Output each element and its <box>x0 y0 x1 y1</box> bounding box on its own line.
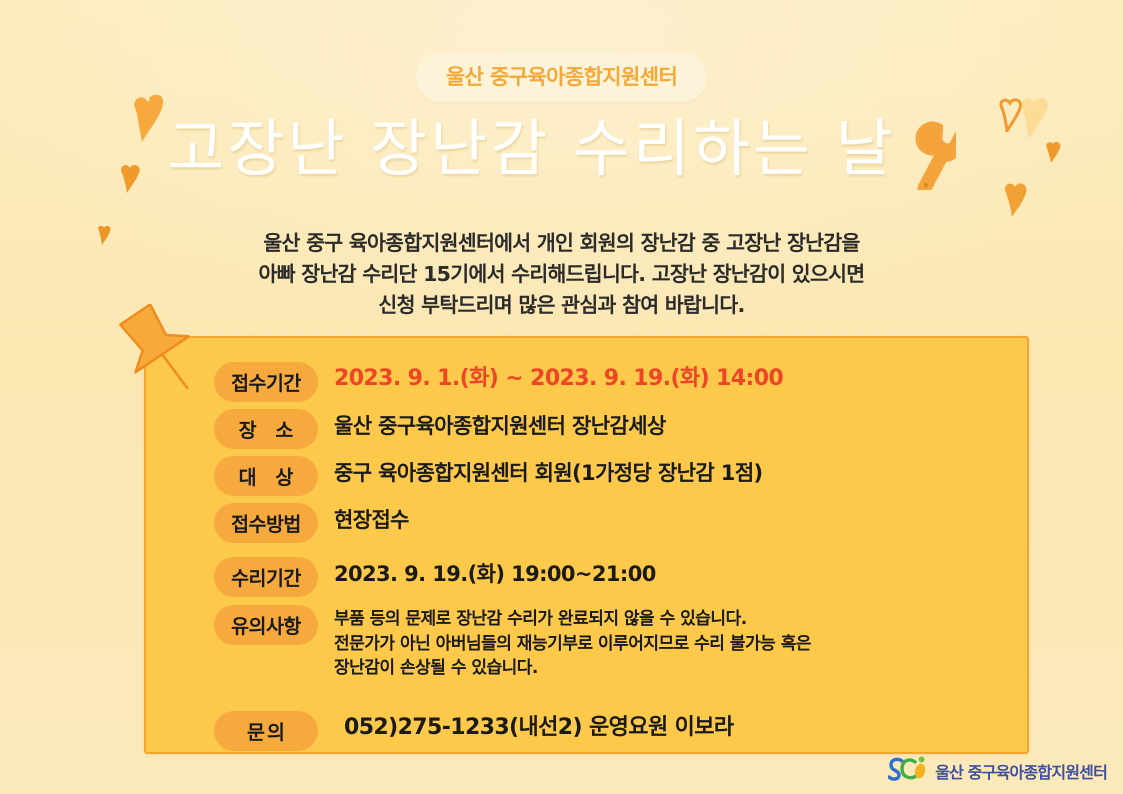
info-row-notice: 유의사항 부품 등의 문제로 장난감 수리가 완료되지 않을 수 있습니다. 전… <box>214 605 1014 681</box>
info-row-application-method: 접수방법 현장접수 <box>214 503 1014 543</box>
info-row-contact: 문의 052)275-1233(내선2) 운영요원 이보라 <box>214 711 1014 751</box>
row-label-reception-period: 접수기간 <box>214 362 318 402</box>
row-label-repair-period: 수리기간 <box>214 557 318 597</box>
wrench-icon <box>894 116 956 194</box>
info-row-reception-period: 접수기간 2023. 9. 1.(화) ~ 2023. 9. 19.(화) 14… <box>214 362 1014 402</box>
row-value-location: 울산 중구육아종합지원센터 장난감세상 <box>318 409 666 440</box>
page-title: 고장난 장난감 수리하는 날 <box>167 118 896 180</box>
row-value-contact: 052)275-1233(내선2) 운영요원 이보라 <box>318 711 734 743</box>
footer-logo-text: 울산 중구육아종합지원센터 <box>935 759 1107 783</box>
organization-badge: 울산 중구육아종합지원센터 <box>416 52 707 102</box>
poster-canvas: 울산 중구육아종합지원센터 고장난 장난감 수리하는 날 울산 중구 육아종합지… <box>0 0 1123 794</box>
row-value-application-method: 현장접수 <box>318 503 409 534</box>
description-text: 울산 중구 육아종합지원센터에서 개인 회원의 장난감 중 고장난 장난감을 아… <box>0 228 1123 321</box>
row-label-application-method: 접수방법 <box>214 503 318 543</box>
row-value-notice: 부품 등의 문제로 장난감 수리가 완료되지 않을 수 있습니다. 전문가가 아… <box>318 605 811 681</box>
info-row-location: 장 소 울산 중구육아종합지원센터 장난감세상 <box>214 409 1014 449</box>
info-row-target: 대 상 중구 육아종합지원센터 회원(1가정당 장난감 1점) <box>214 456 1014 496</box>
sc-center-logo-icon <box>888 756 928 786</box>
info-row-repair-period: 수리기간 2023. 9. 19.(화) 19:00~21:00 <box>214 557 1014 597</box>
info-rows-list: 접수기간 2023. 9. 1.(화) ~ 2023. 9. 19.(화) 14… <box>214 362 1014 758</box>
title-row: 고장난 장난감 수리하는 날 <box>0 110 1123 188</box>
row-label-contact: 문의 <box>214 711 318 751</box>
footer-logo: 울산 중구육아종합지원센터 <box>888 756 1107 786</box>
row-label-notice: 유의사항 <box>214 605 318 645</box>
row-value-reception-period: 2023. 9. 1.(화) ~ 2023. 9. 19.(화) 14:00 <box>318 362 783 394</box>
row-value-repair-period: 2023. 9. 19.(화) 19:00~21:00 <box>318 557 656 588</box>
row-label-location: 장 소 <box>214 409 318 449</box>
row-value-target: 중구 육아종합지원센터 회원(1가정당 장난감 1점) <box>318 456 763 487</box>
organization-badge-row: 울산 중구육아종합지원센터 <box>0 52 1123 102</box>
row-label-target: 대 상 <box>214 456 318 496</box>
